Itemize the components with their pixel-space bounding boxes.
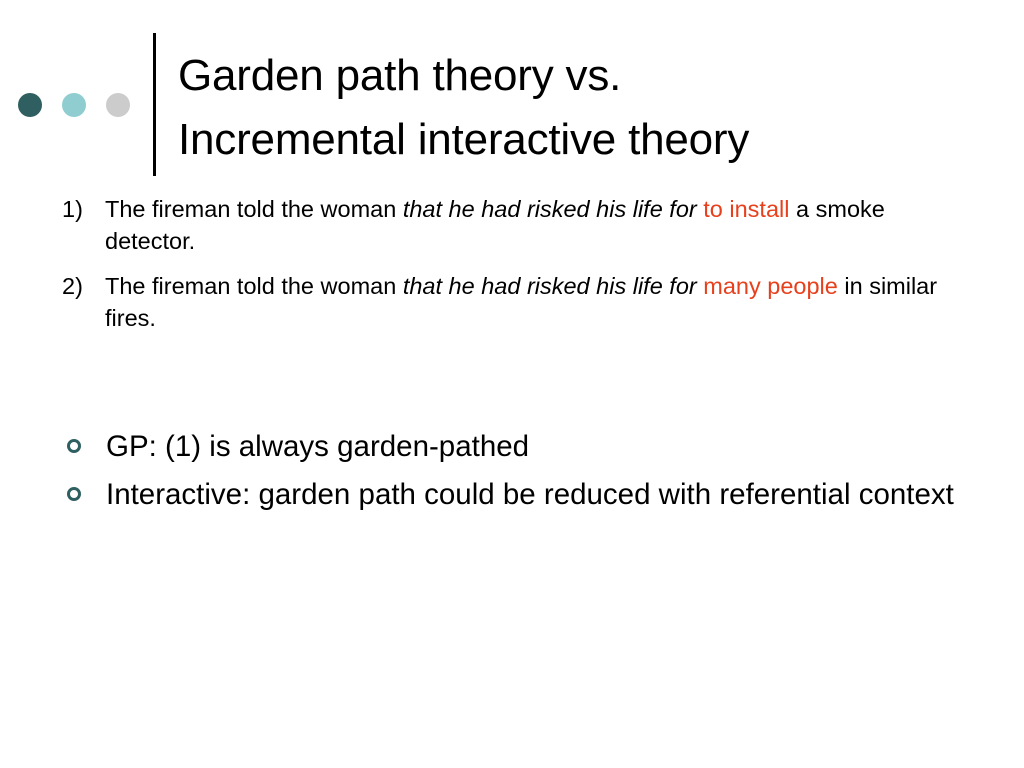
bullet-item-text: GP: (1) is always garden-pathed xyxy=(106,427,966,466)
page-title: Garden path theory vs. Incremental inter… xyxy=(178,44,1008,172)
sentence-highlight-phrase: to install xyxy=(703,196,789,222)
bullet-item-text: Interactive: garden path could be reduce… xyxy=(106,475,966,514)
ring-bullet-icon xyxy=(67,487,81,501)
sentence-plain-start: The fireman told the woman xyxy=(105,196,403,222)
list-item: Interactive: garden path could be reduce… xyxy=(66,475,966,514)
page-title-line-1: Garden path theory vs. xyxy=(178,44,1008,108)
list-item: 1) The fireman told the woman that he ha… xyxy=(62,193,972,257)
list-item-text: The fireman told the woman that he had r… xyxy=(105,273,937,331)
dot-light-icon xyxy=(62,93,86,117)
example-sentence-list: 1) The fireman told the woman that he ha… xyxy=(62,193,972,347)
list-item: 2) The fireman told the woman that he ha… xyxy=(62,270,972,334)
slide: Garden path theory vs. Incremental inter… xyxy=(0,0,1024,768)
sentence-italic-clause: that he had risked his life for xyxy=(403,273,697,299)
slide-title-block: Garden path theory vs. Incremental inter… xyxy=(0,0,1024,185)
dot-dark-icon xyxy=(18,93,42,117)
list-item-text: The fireman told the woman that he had r… xyxy=(105,196,885,254)
dot-gray-icon xyxy=(106,93,130,117)
title-vertical-rule xyxy=(153,33,156,176)
page-title-line-2: Incremental interactive theory xyxy=(178,108,1008,172)
sentence-italic-clause: that he had risked his life for xyxy=(403,196,697,222)
list-item-number: 2) xyxy=(62,270,98,302)
sentence-plain-start: The fireman told the woman xyxy=(105,273,403,299)
ring-bullet-icon xyxy=(67,439,81,453)
sentence-highlight-phrase: many people xyxy=(703,273,838,299)
conclusion-bullet-list: GP: (1) is always garden-pathed Interact… xyxy=(66,427,966,523)
decorative-dots xyxy=(18,93,130,117)
list-item-number: 1) xyxy=(62,193,98,225)
list-item: GP: (1) is always garden-pathed xyxy=(66,427,966,466)
